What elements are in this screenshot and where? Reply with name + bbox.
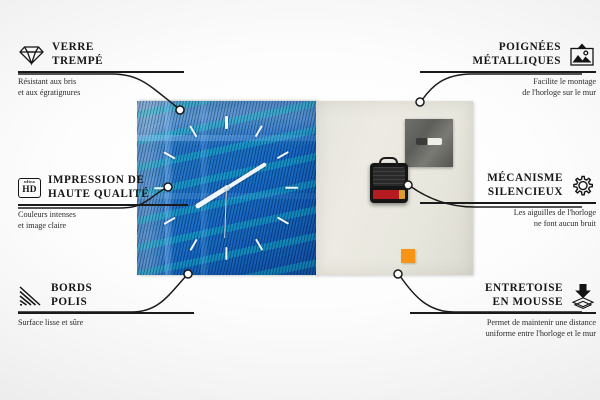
- feature-description: Les aiguilles de l'horloge ne font aucun…: [400, 207, 596, 230]
- feature-desc-line1: Surface lisse et sûre: [18, 317, 204, 328]
- feature-verre-trempe: VERRE TREMPÉ Résistant aux bris et aux é…: [18, 41, 204, 98]
- feature-title-line1: IMPRESSION DE: [48, 174, 149, 188]
- arrow-down-onto-layers-icon: [570, 283, 596, 309]
- hour-marker: [189, 238, 198, 250]
- feature-desc-line1: Couleurs intenses: [18, 209, 204, 220]
- feature-title: VERRE TREMPÉ: [52, 41, 103, 68]
- feature-title-line2: HAUTE QUALITÉ: [48, 188, 149, 202]
- hour-marker: [277, 151, 289, 160]
- hour-marker: [255, 238, 264, 250]
- feature-title-line1: POIGNÉES: [472, 41, 561, 55]
- feature-mecanisme-silencieux: MÉCANISME SILENCIEUX Les aiguilles de l'…: [400, 172, 596, 229]
- feature-title-line2: EN MOUSSE: [485, 296, 563, 310]
- feature-description: Permet de maintenir une distance uniform…: [400, 317, 596, 340]
- feature-desc-line1: Facilite le montage: [400, 76, 596, 87]
- divider: [420, 202, 596, 203]
- hour-marker: [225, 116, 227, 129]
- hour-marker: [225, 247, 227, 260]
- feature-desc-line2: uniforme entre l'horloge et le mur: [400, 328, 596, 339]
- hour-marker: [277, 216, 289, 225]
- feature-description: Couleurs intenses et image claire: [18, 209, 204, 232]
- feature-title-line1: MÉCANISME: [487, 172, 563, 186]
- feature-title-line2: POLIS: [51, 296, 92, 310]
- hour-marker: [189, 125, 198, 137]
- feature-title: BORDS POLIS: [51, 282, 92, 309]
- feature-title: MÉCANISME SILENCIEUX: [487, 172, 563, 199]
- feature-title: POIGNÉES MÉTALLIQUES: [472, 41, 561, 68]
- feature-entretoise-en-mousse: ENTRETOISE EN MOUSSE Permet de maintenir…: [400, 282, 596, 339]
- feature-title: ENTRETOISE EN MOUSSE: [485, 282, 563, 309]
- feature-desc-line2: ne font aucun bruit: [400, 218, 596, 229]
- feature-description: Résistant aux bris et aux égratignures: [18, 76, 204, 99]
- feature-title-line2: SILENCIEUX: [487, 186, 563, 200]
- clock-hub: [224, 185, 230, 191]
- feature-title-line1: ENTRETOISE: [485, 282, 563, 296]
- feature-title-line2: TREMPÉ: [52, 55, 103, 69]
- feature-poignees-metalliques: POIGNÉES MÉTALLIQUES Facilite le montage…: [400, 41, 596, 98]
- divider: [18, 312, 194, 313]
- feature-description: Facilite le montage de l'horloge sur le …: [400, 76, 596, 99]
- gear-icon: [570, 173, 596, 199]
- foam-spacer: [401, 249, 415, 263]
- polished-edge-icon: [18, 285, 44, 307]
- second-hand: [224, 186, 227, 238]
- feature-bords-polis: BORDS POLIS Surface lisse et sûre: [18, 282, 204, 328]
- feature-desc-line2: de l'horloge sur le mur: [400, 87, 596, 98]
- infographic-canvas: VERRE TREMPÉ Résistant aux bris et aux é…: [0, 0, 600, 400]
- feature-title: IMPRESSION DE HAUTE QUALITÉ: [48, 174, 149, 201]
- hour-marker: [164, 151, 176, 160]
- minute-hand: [225, 162, 266, 190]
- divider: [18, 204, 188, 205]
- feature-description: Surface lisse et sûre: [18, 317, 204, 328]
- ultra-hd-main-text: HD: [22, 186, 36, 195]
- feature-desc-line1: Permet de maintenir une distance: [400, 317, 596, 328]
- feature-title-line1: BORDS: [51, 282, 92, 296]
- picture-frame-hanger-icon: [568, 42, 596, 68]
- feature-title-line1: VERRE: [52, 41, 103, 55]
- ultra-hd-icon: ultra HD: [18, 178, 41, 198]
- divider: [18, 71, 184, 72]
- hour-marker: [255, 125, 264, 137]
- feature-title-line2: MÉTALLIQUES: [472, 55, 561, 69]
- hanger-slot: [416, 138, 442, 145]
- divider: [410, 312, 596, 313]
- feature-desc-line2: et aux égratignures: [18, 87, 204, 98]
- diamond-icon: [18, 44, 45, 66]
- feature-impression-haute-qualite: ultra HD IMPRESSION DE HAUTE QUALITÉ Cou…: [18, 174, 204, 231]
- hour-marker: [286, 187, 299, 189]
- feature-desc-line1: Résistant aux bris: [18, 76, 204, 87]
- divider: [420, 71, 596, 72]
- feature-desc-line1: Les aiguilles de l'horloge: [400, 207, 596, 218]
- feature-desc-line2: et image claire: [18, 220, 204, 231]
- metal-hanger-plate: [405, 119, 453, 167]
